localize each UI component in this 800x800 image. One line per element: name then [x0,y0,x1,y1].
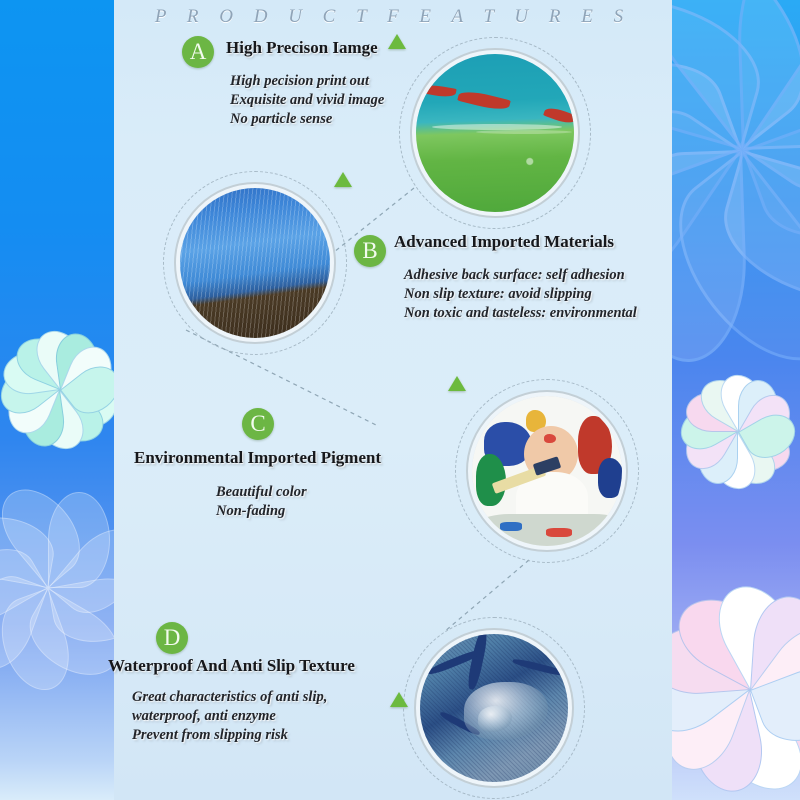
green-triangle-marker-a [388,34,406,49]
left-decorative-band [0,0,114,800]
right-decorative-band [672,0,800,800]
feature-badge-a: A [182,36,214,68]
waterproof-texture-image [420,634,568,782]
bullet-d-2: waterproof, anti enzyme [132,707,327,726]
photo-underwater-fish [416,54,574,212]
feature-badge-d: D [156,622,188,654]
photo-blue-fabric [180,188,330,338]
bullet-c-2: Non-fading [216,502,307,521]
feature-bullets-b: Adhesive back surface: self adhesion Non… [404,266,637,323]
green-triangle-marker-d [390,692,408,707]
green-triangle-marker-c [448,376,466,391]
feature-photo-b [174,182,336,344]
bullet-b-1: Adhesive back surface: self adhesion [404,266,637,285]
bullet-b-2: Non slip texture: avoid slipping [404,285,637,304]
bullet-a-2: Exquisite and vivid image [230,91,384,110]
feature-badge-c: C [242,408,274,440]
underwater-fish-scene-image [416,54,574,212]
feature-headline-b: Advanced Imported Materials [394,232,614,252]
feature-headline-c: Environmental Imported Pigment [134,448,381,468]
feature-photo-d [414,628,574,788]
feature-bullets-a: High pecision print out Exquisite and vi… [230,72,384,129]
green-triangle-marker-b [334,172,352,187]
bullet-d-1: Great characteristics of anti slip, [132,688,327,707]
feature-headline-a: High Precison Iamge [226,38,378,58]
feature-bullets-d: Great characteristics of anti slip, wate… [132,688,327,745]
blue-ribbed-fabric-image [180,188,330,338]
photo-water-droplet [420,634,568,782]
bullet-a-1: High pecision print out [230,72,384,91]
infographic-canvas: P R O D U C T F E A T U R E S A High Pre… [0,0,800,800]
feature-headline-d: Waterproof And Anti Slip Texture [108,656,355,676]
bullet-d-3: Prevent from slipping risk [132,726,327,745]
photo-baby-painting [472,396,622,546]
feature-photo-a [410,48,580,218]
baby-painting-image [472,396,622,546]
feature-badge-b: B [354,235,386,267]
feature-bullets-c: Beautiful color Non-fading [216,483,307,521]
feature-photo-c [466,390,628,552]
bullet-a-3: No particle sense [230,110,384,129]
content-panel: P R O D U C T F E A T U R E S A High Pre… [114,0,672,800]
bullet-c-1: Beautiful color [216,483,307,502]
bullet-b-3: Non toxic and tasteless: environmental [404,304,637,323]
